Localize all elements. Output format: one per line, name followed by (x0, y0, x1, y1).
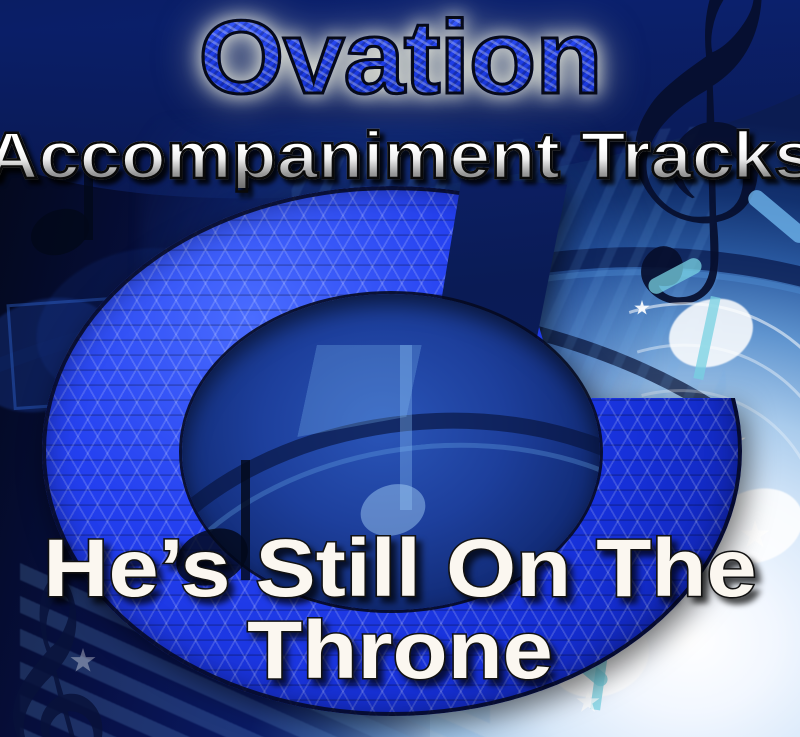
song-title: He’s Still On The Throne (0, 528, 800, 692)
brand-title: Ovation (0, 6, 800, 110)
subtitle: Accompaniment Tracks (0, 122, 800, 188)
glass-eighth-note (228, 345, 438, 545)
album-cover: 𝄞 𝄞 Ovation Accompaniment Tracks He’s (0, 0, 800, 737)
